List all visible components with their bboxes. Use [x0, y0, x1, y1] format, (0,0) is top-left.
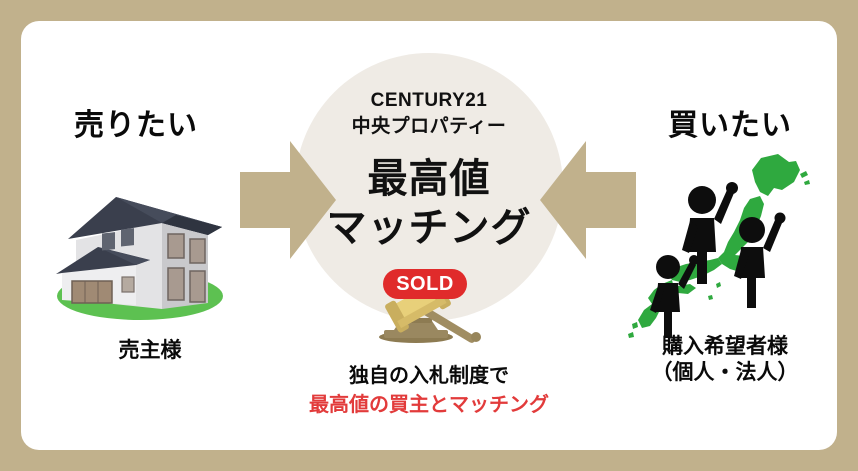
- infographic-canvas: 売りたい: [0, 0, 858, 471]
- house-illustration: [40, 178, 240, 323]
- brand-line-1: CENTURY21: [295, 88, 563, 114]
- japan-map-with-people: [628, 152, 818, 342]
- brand-text: CENTURY21 中央プロパティー: [295, 88, 563, 139]
- right-caption-line-2: （個人・法人）: [620, 360, 830, 386]
- tagline-line-2: 最高値の買主とマッチング: [249, 391, 609, 420]
- headline-line-2: マッチング: [295, 204, 563, 253]
- tagline: 独自の入札制度で 最高値の買主とマッチング: [249, 362, 609, 420]
- tagline-line-1: 独自の入札制度で: [249, 362, 609, 391]
- headline-line-1: 最高値: [295, 155, 563, 204]
- left-caption: 売主様: [60, 334, 240, 364]
- headline-text: 最高値 マッチング: [295, 155, 563, 253]
- person-figure-left: [650, 255, 699, 338]
- right-caption-line-1: 購入希望者様: [620, 334, 830, 360]
- sold-badge: SOLD: [383, 269, 467, 299]
- brand-line-2: 中央プロパティー: [295, 114, 563, 140]
- right-heading: 買いたい: [668, 100, 792, 144]
- right-caption: 購入希望者様 （個人・法人）: [620, 334, 830, 387]
- left-heading: 売りたい: [74, 100, 198, 144]
- person-figure-right: [734, 213, 786, 309]
